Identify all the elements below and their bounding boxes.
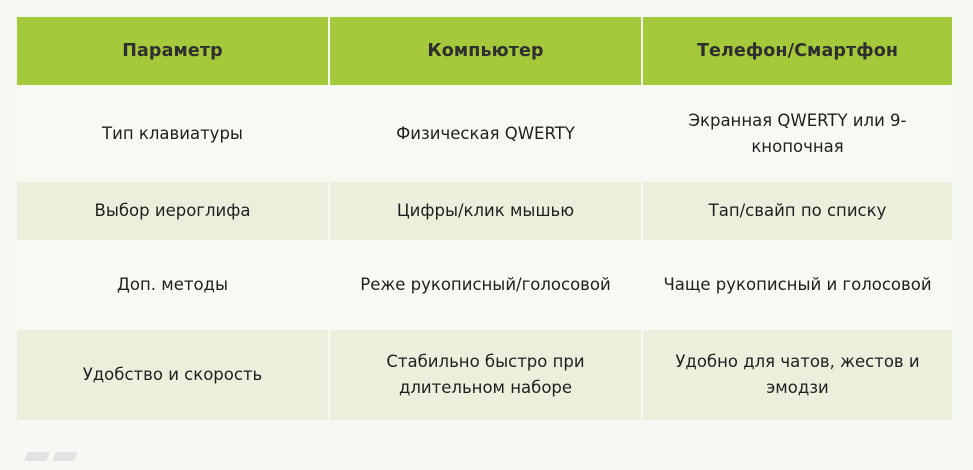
quote-mark-stroke-left — [24, 452, 50, 461]
cell-parameter: Тип клавиатуры — [17, 85, 330, 182]
column-header-computer: Компьютер — [330, 17, 643, 85]
column-header-phone: Телефон/Смартфон — [643, 17, 952, 85]
cell-computer: Реже рукописный/голосовой — [330, 240, 643, 330]
cell-parameter: Доп. методы — [17, 240, 330, 330]
cell-phone: Чаще рукописный и голосовой — [643, 240, 952, 330]
table-row: Тип клавиатуры Физическая QWERTY Экранна… — [17, 85, 952, 182]
cell-phone: Тап/свайп по списку — [643, 182, 952, 240]
comparison-table-container: Параметр Компьютер Телефон/Смартфон Тип … — [17, 17, 952, 420]
quote-mark-stroke-right — [52, 452, 78, 461]
column-header-parameter: Параметр — [17, 17, 330, 85]
cell-parameter: Выбор иероглифа — [17, 182, 330, 240]
table-header: Параметр Компьютер Телефон/Смартфон — [17, 17, 952, 85]
cell-phone: Экранная QWERTY или 9-кнопочная — [643, 85, 952, 182]
cell-phone: Удобно для чатов, жестов и эмодзи — [643, 330, 952, 420]
cell-parameter: Удобство и скорость — [17, 330, 330, 420]
cell-computer: Стабильно быстро при длительном наборе — [330, 330, 643, 420]
table-row: Выбор иероглифа Цифры/клик мышью Тап/сва… — [17, 182, 952, 240]
table-body: Тип клавиатуры Физическая QWERTY Экранна… — [17, 85, 952, 420]
table-row: Удобство и скорость Стабильно быстро при… — [17, 330, 952, 420]
cell-computer: Цифры/клик мышью — [330, 182, 643, 240]
table-header-row: Параметр Компьютер Телефон/Смартфон — [17, 17, 952, 85]
table-row: Доп. методы Реже рукописный/голосовой Ча… — [17, 240, 952, 330]
comparison-table: Параметр Компьютер Телефон/Смартфон Тип … — [17, 17, 952, 420]
quote-mark-icon — [26, 452, 86, 470]
cell-computer: Физическая QWERTY — [330, 85, 643, 182]
